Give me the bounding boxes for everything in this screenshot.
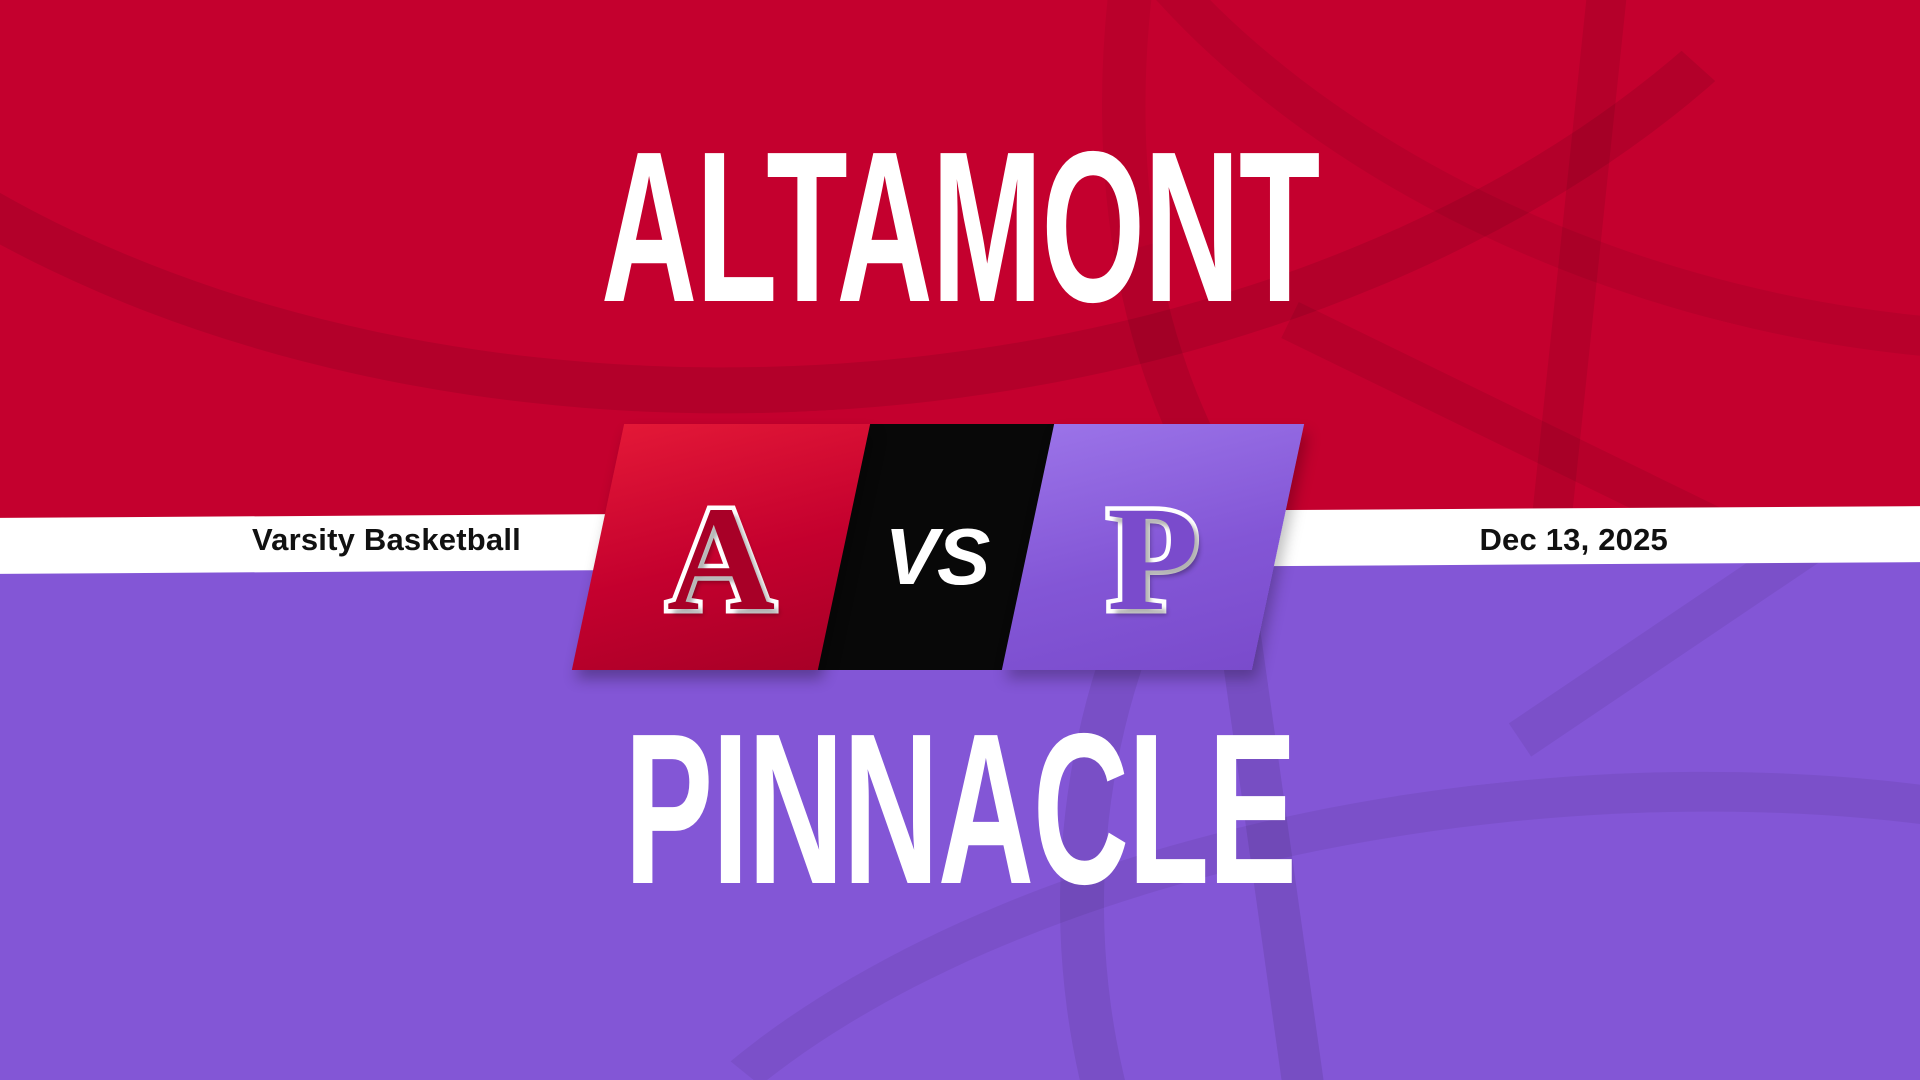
away-team-monogram-icon: P — [1107, 484, 1199, 634]
basketball-seam-icon — [1281, 302, 1920, 540]
away-team-name: PINNACLE — [365, 710, 1555, 908]
away-team-badge: P — [1002, 424, 1304, 670]
game-date-label: Dec 13, 2025 — [1479, 522, 1668, 558]
matchup-badge-cluster: A VS P — [598, 424, 1322, 670]
sport-label: Varsity Basketball — [252, 522, 521, 558]
matchup-graphic: ALTAMONT PINNACLE Varsity Basketball Dec… — [0, 0, 1920, 1080]
home-team-badge: A — [572, 424, 870, 670]
home-team-monogram-icon: A — [667, 484, 775, 634]
home-team-name: ALTAMONT — [365, 128, 1555, 326]
basketball-seam-icon — [1509, 540, 1920, 757]
versus-label: VS — [885, 517, 990, 597]
